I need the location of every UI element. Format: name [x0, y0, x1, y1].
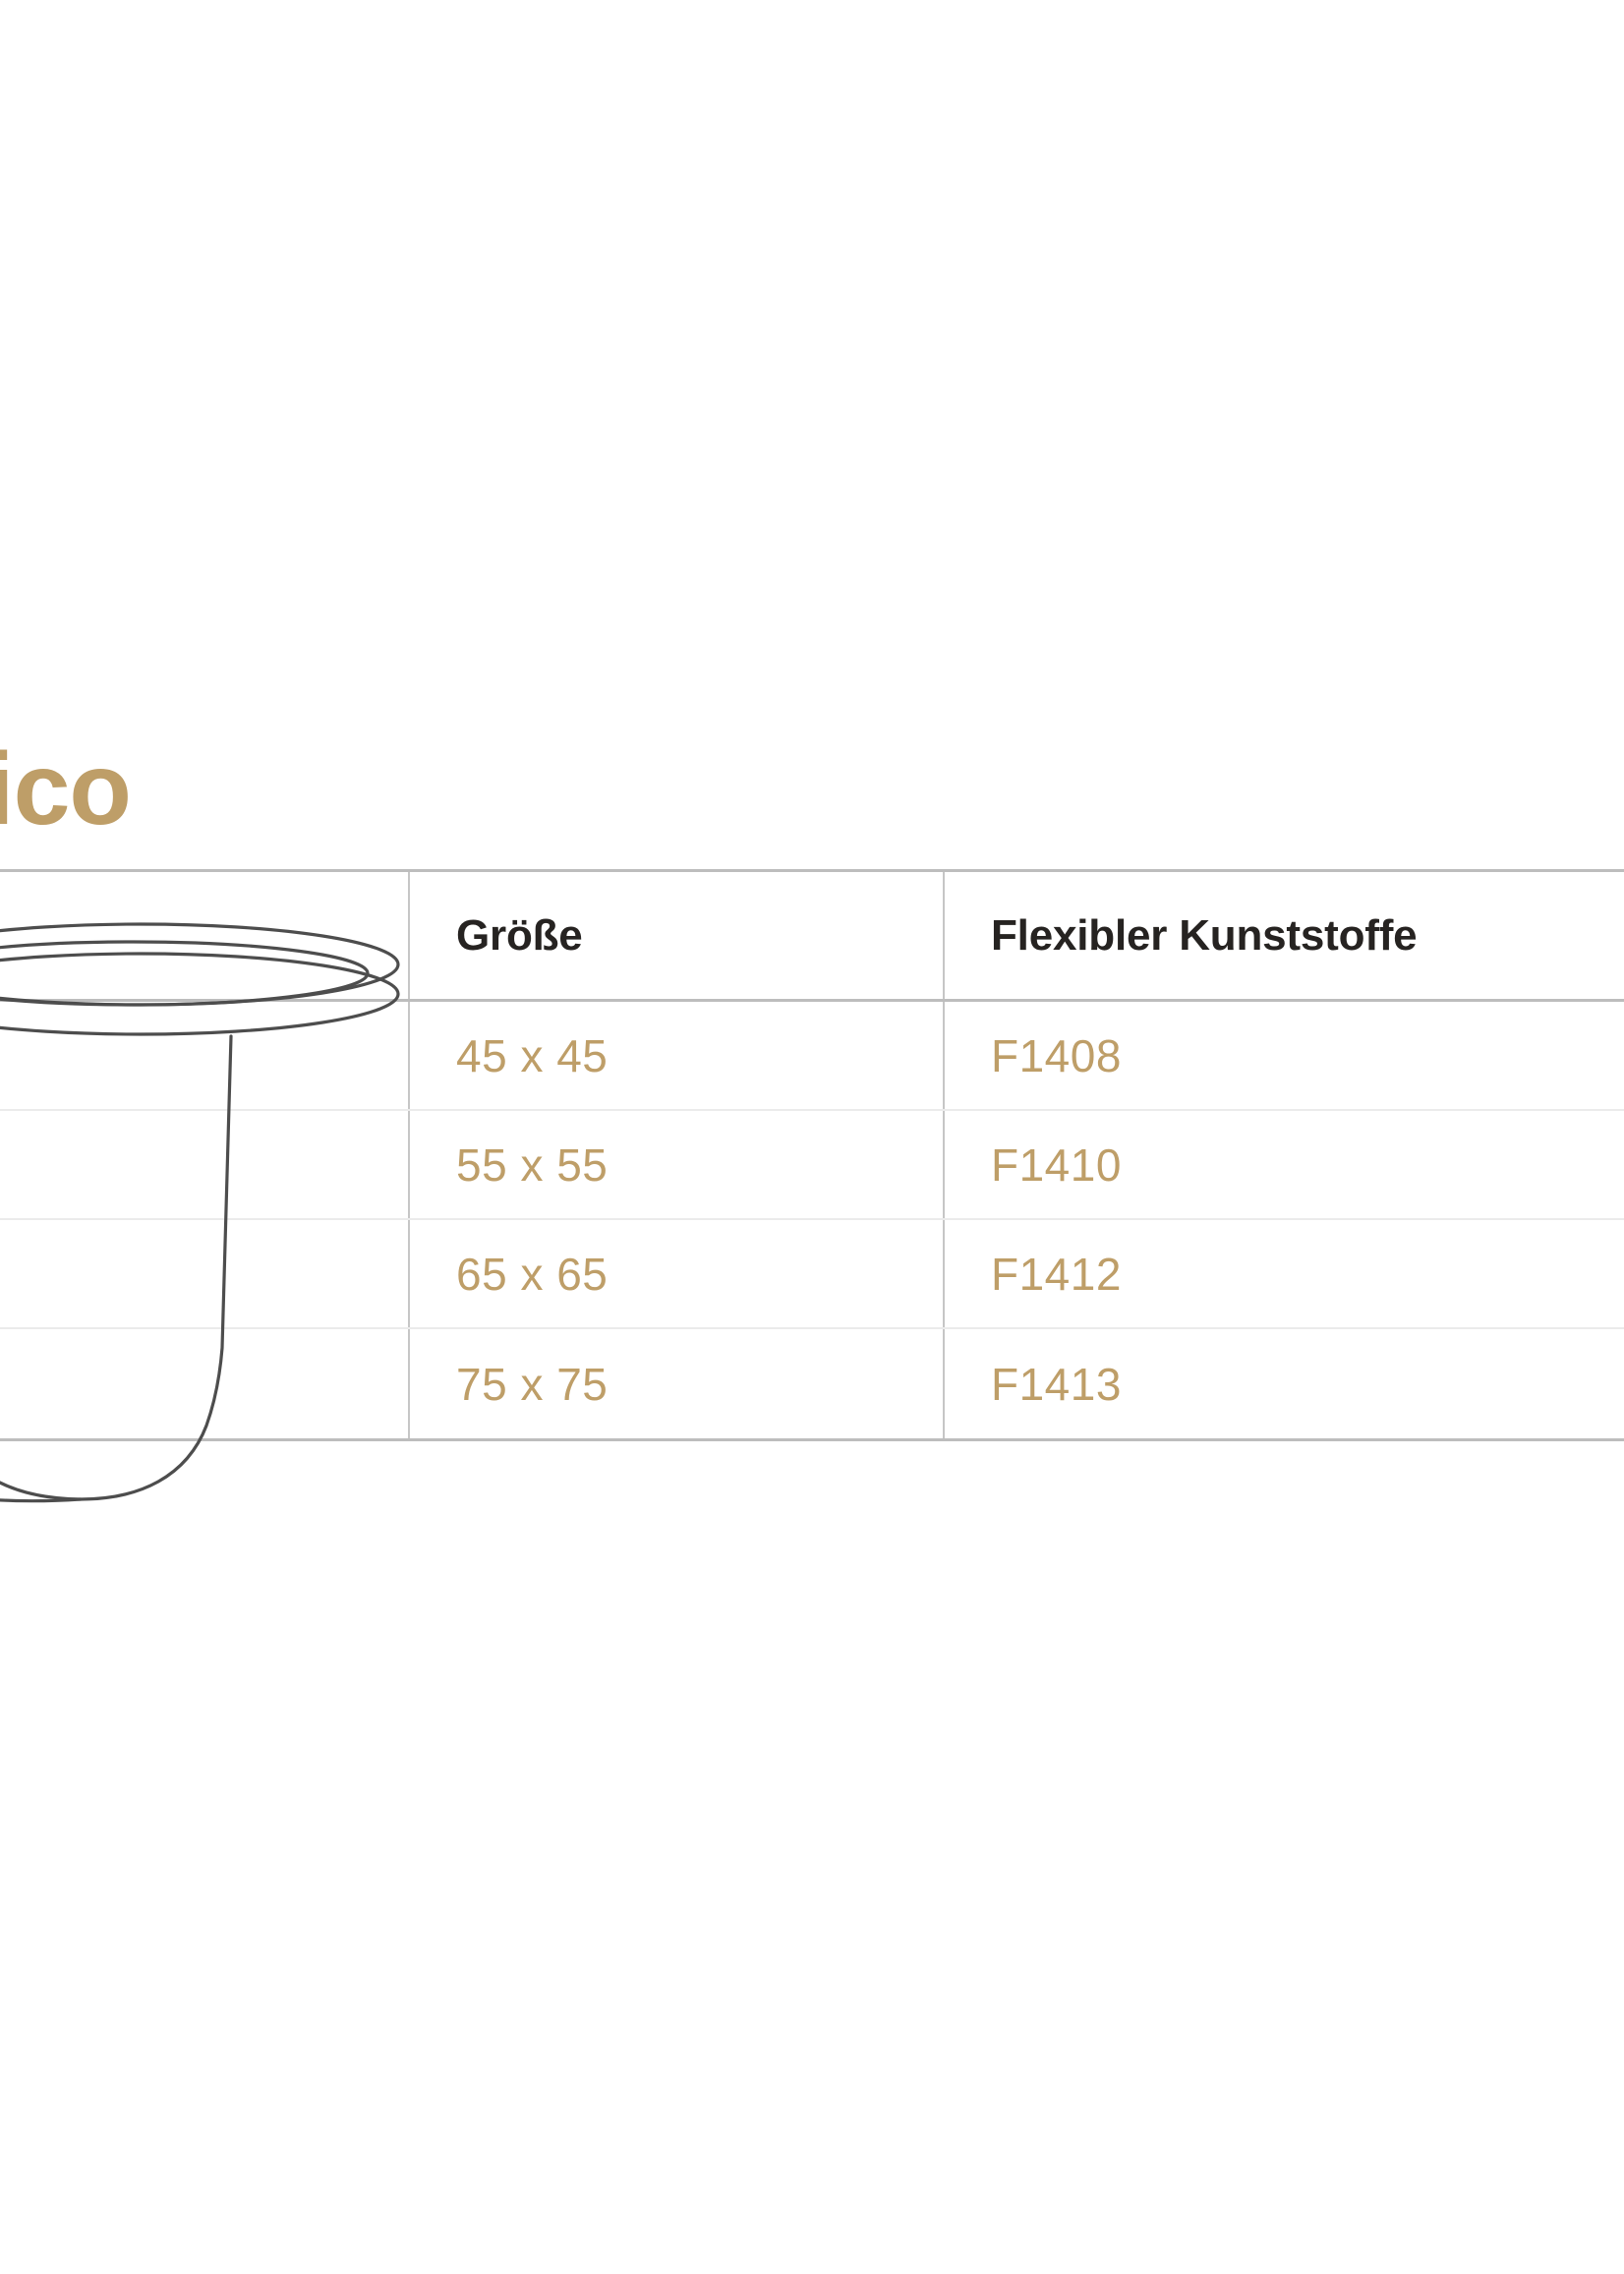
illustration-cell	[0, 1329, 410, 1438]
table-header-material-cell: Flexibler Kunststoffe	[945, 872, 1624, 999]
page-title-block: ssico	[0, 735, 688, 844]
illustration-cell	[0, 1002, 410, 1109]
material-code-value: F1413	[991, 1358, 1122, 1411]
size-cell: 45 x 45	[410, 1002, 945, 1109]
specification-table: Größe Flexibler Kunststoffe 45 x 45 F140…	[0, 869, 1624, 1441]
size-cell: 65 x 65	[410, 1220, 945, 1327]
size-value: 45 x 45	[456, 1029, 608, 1082]
size-cell: 75 x 75	[410, 1329, 945, 1438]
material-code-cell: F1412	[945, 1220, 1624, 1327]
page-title: ssico	[0, 735, 131, 844]
material-code-cell: F1408	[945, 1002, 1624, 1109]
table-row: 45 x 45 F1408	[0, 1002, 1624, 1111]
size-value: 75 x 75	[456, 1358, 608, 1411]
table-header-size-cell: Größe	[410, 872, 945, 999]
material-code-cell: F1413	[945, 1329, 1624, 1438]
material-code-value: F1410	[991, 1138, 1122, 1192]
product-spec-page: ssico Größe Flexibler Kunststoffe 45 x 4…	[0, 0, 1624, 2274]
illustration-cell	[0, 1220, 410, 1327]
table-header-illustration-cell	[0, 872, 410, 999]
material-code-value: F1408	[991, 1029, 1122, 1082]
column-header-material: Flexibler Kunststoffe	[991, 911, 1417, 961]
material-code-value: F1412	[991, 1248, 1122, 1301]
illustration-cell	[0, 1111, 410, 1218]
table-row: 55 x 55 F1410	[0, 1111, 1624, 1220]
table-row: 65 x 65 F1412	[0, 1220, 1624, 1329]
material-code-cell: F1410	[945, 1111, 1624, 1218]
size-cell: 55 x 55	[410, 1111, 945, 1218]
size-value: 65 x 65	[456, 1248, 608, 1301]
table-header-row: Größe Flexibler Kunststoffe	[0, 872, 1624, 1002]
size-value: 55 x 55	[456, 1138, 608, 1192]
table-row: 75 x 75 F1413	[0, 1329, 1624, 1438]
column-header-size: Größe	[456, 911, 583, 961]
